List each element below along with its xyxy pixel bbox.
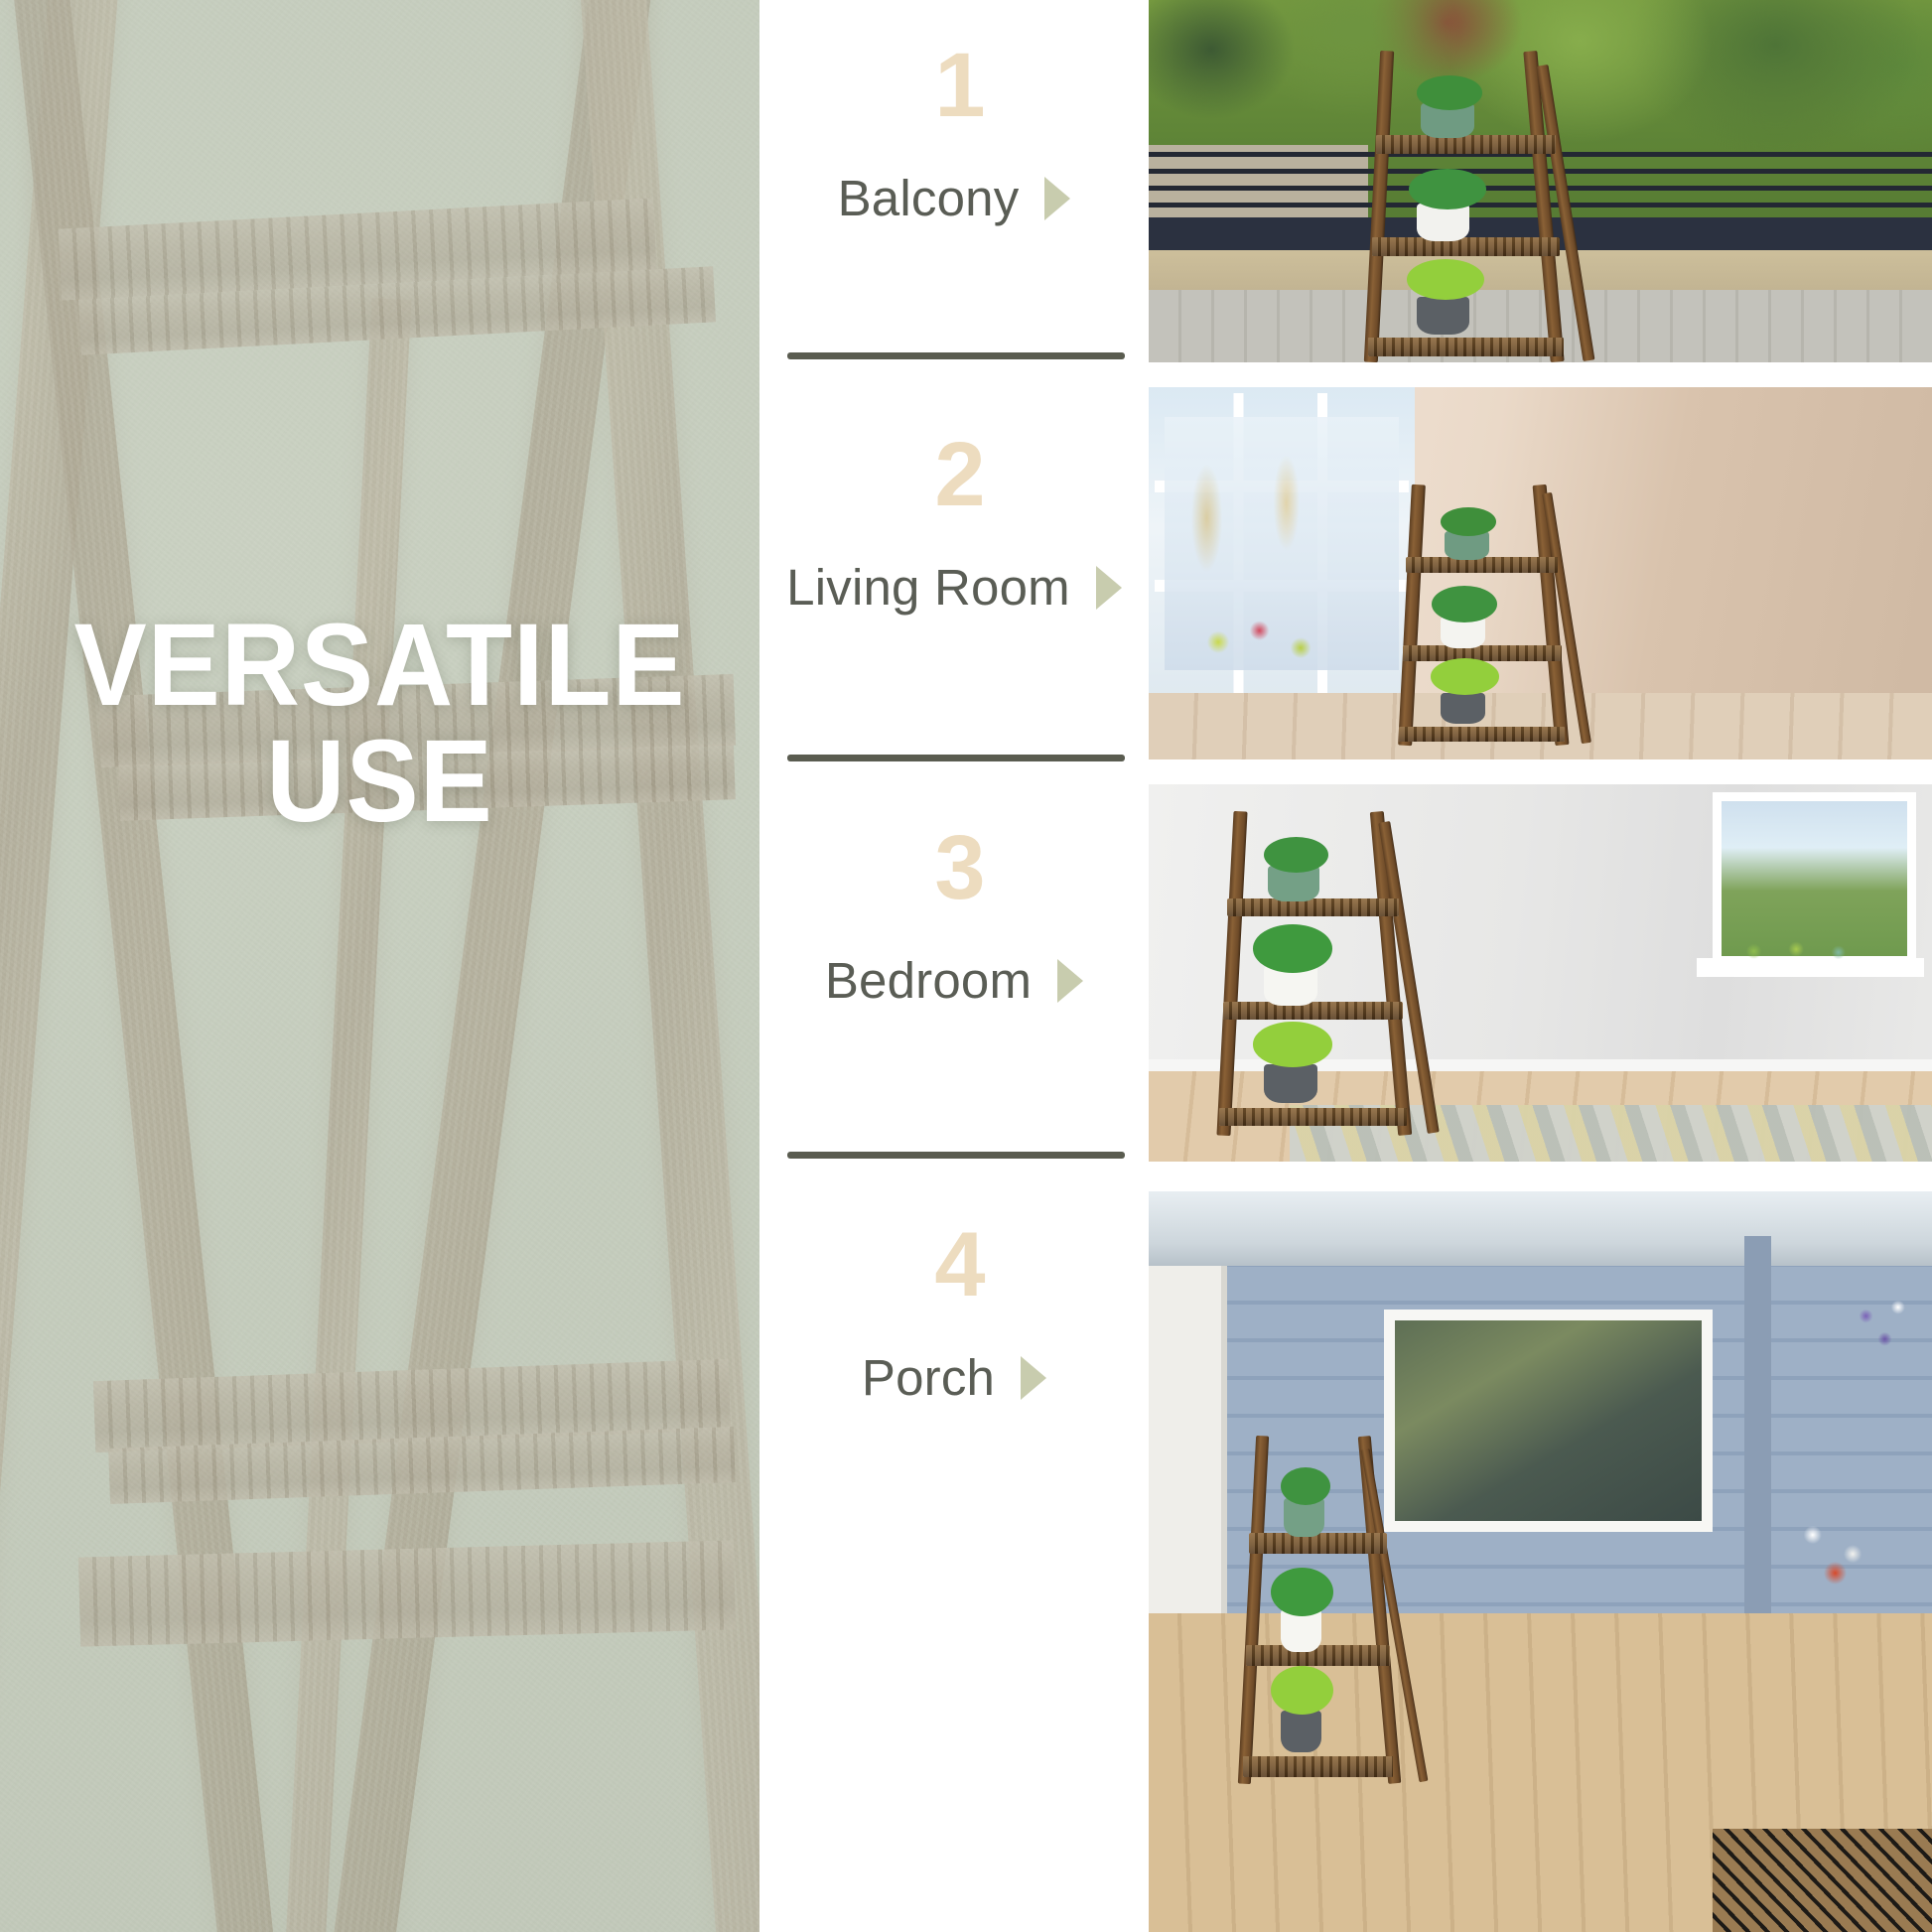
item-label-row: Living Room xyxy=(759,558,1149,617)
stand-tier-middle xyxy=(1372,237,1560,256)
stand-tier-top xyxy=(1376,135,1556,154)
bedroom-scene xyxy=(1149,784,1932,1162)
plant-stand xyxy=(1243,1436,1400,1784)
photo-porch xyxy=(1149,1191,1932,1932)
stand-tier-top xyxy=(1406,557,1558,573)
plant-foliage-middle xyxy=(1432,586,1497,622)
item-label: Bedroom xyxy=(825,951,1032,1010)
stand-tier-bottom xyxy=(1399,727,1565,743)
plant-foliage-bottom xyxy=(1253,1022,1333,1067)
stand-tier-middle xyxy=(1246,1645,1390,1666)
stand-tier-top xyxy=(1249,1533,1387,1554)
list-divider xyxy=(787,352,1125,359)
living-room-scene xyxy=(1149,387,1932,759)
stand-leg-left xyxy=(1364,51,1395,362)
item-number: 1 xyxy=(765,40,1155,131)
item-label-row: Balcony xyxy=(759,169,1149,227)
item-label: Balcony xyxy=(838,169,1020,227)
porch-post xyxy=(1744,1236,1772,1651)
photo-balcony xyxy=(1149,0,1932,362)
stand-tier-middle xyxy=(1403,645,1562,661)
list-item[interactable]: 2 Living Room xyxy=(759,429,1149,617)
plant-foliage-top xyxy=(1441,507,1496,536)
marketing-infographic: VERSATILE USE 1 Balcony 2 Living Room 3 … xyxy=(0,0,1932,1932)
porch-scene xyxy=(1149,1191,1932,1932)
pot-grey xyxy=(1281,1711,1321,1752)
pot-grey xyxy=(1264,1064,1316,1103)
item-label-row: Bedroom xyxy=(759,951,1149,1010)
photo-column xyxy=(1149,0,1932,1932)
window xyxy=(1384,1310,1713,1532)
item-label: Porch xyxy=(862,1348,995,1407)
lattice xyxy=(1713,1829,1932,1932)
stand-leg-left xyxy=(1398,483,1426,745)
stand-tier-top xyxy=(1227,898,1400,916)
page-title-line-1: VERSATILE xyxy=(73,600,685,731)
stand-tier-bottom xyxy=(1243,1756,1393,1777)
list-item[interactable]: 4 Porch xyxy=(759,1219,1149,1407)
triangle-right-icon xyxy=(1044,177,1070,220)
triangle-right-icon xyxy=(1096,566,1122,610)
plant-foliage-top xyxy=(1281,1467,1330,1506)
stand-tier-bottom xyxy=(1219,1108,1407,1126)
page-title: VERSATILE USE xyxy=(27,608,733,840)
pot-grey xyxy=(1441,693,1485,725)
hero-panel: VERSATILE USE xyxy=(0,0,759,1932)
photo-bedroom xyxy=(1149,784,1932,1162)
photo-living-room xyxy=(1149,387,1932,759)
hero-fade-overlay xyxy=(0,0,759,1932)
item-label: Living Room xyxy=(786,558,1070,617)
porch-roof xyxy=(1149,1191,1932,1266)
sill-succulents xyxy=(1728,935,1869,962)
stand-tier-bottom xyxy=(1368,338,1564,356)
list-item[interactable]: 3 Bedroom xyxy=(759,822,1149,1010)
item-label-row: Porch xyxy=(759,1348,1149,1407)
plant-foliage-top xyxy=(1417,75,1482,110)
hanging-basket xyxy=(1838,1281,1932,1370)
plant-foliage-middle xyxy=(1253,924,1333,973)
plant-foliage-bottom xyxy=(1431,658,1499,695)
flower-pot xyxy=(1775,1487,1900,1605)
item-number: 4 xyxy=(765,1219,1155,1311)
stand-leg-left xyxy=(1216,810,1247,1135)
stand-leg-left xyxy=(1238,1436,1269,1784)
plant-foliage-bottom xyxy=(1271,1666,1333,1715)
triangle-right-icon xyxy=(1057,959,1083,1003)
list-divider xyxy=(787,755,1125,761)
plant-stand xyxy=(1219,811,1415,1136)
plant-foliage-middle xyxy=(1271,1568,1333,1616)
balcony-scene xyxy=(1149,0,1932,362)
floor-plants xyxy=(1180,604,1353,701)
plant-foliage-top xyxy=(1264,837,1328,873)
item-number: 3 xyxy=(765,822,1155,913)
stand-tier-middle xyxy=(1223,1002,1403,1020)
pot-grey xyxy=(1417,297,1469,335)
screen-door xyxy=(1149,1266,1227,1666)
plant-foliage-middle xyxy=(1409,169,1486,209)
plant-stand xyxy=(1368,51,1572,362)
use-case-list: 1 Balcony 2 Living Room 3 Bedroom 4 xyxy=(759,0,1149,1932)
list-divider xyxy=(787,1152,1125,1159)
page-title-line-2: USE xyxy=(27,724,733,840)
list-item[interactable]: 1 Balcony xyxy=(759,40,1149,227)
triangle-right-icon xyxy=(1021,1356,1046,1400)
plant-foliage-bottom xyxy=(1407,259,1484,300)
item-number: 2 xyxy=(765,429,1155,520)
plant-stand xyxy=(1399,484,1572,746)
